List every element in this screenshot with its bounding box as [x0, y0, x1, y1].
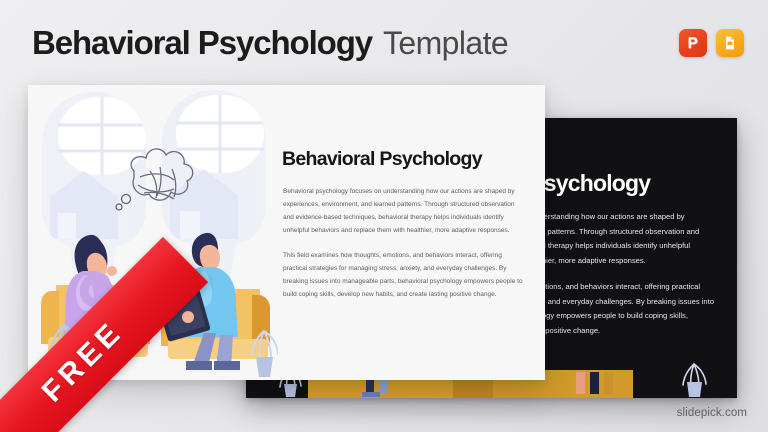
page-title: Behavioral Psychology Template	[32, 24, 679, 62]
powerpoint-icon[interactable]	[679, 29, 707, 57]
slide-light-body: Behavioral psychology focuses on underst…	[283, 185, 524, 301]
slide-light-title: Behavioral Psychology	[282, 148, 482, 171]
google-slides-icon[interactable]	[716, 29, 744, 57]
slide-light-paragraph: Behavioral psychology focuses on underst…	[283, 185, 524, 238]
page-title-bold: Behavioral Psychology	[32, 24, 372, 62]
site-watermark: slidepick.com	[677, 407, 747, 419]
format-icons	[679, 29, 744, 57]
slide-light-paragraph: This field examines how thoughts, emotio…	[283, 249, 524, 302]
page-title-light: Template	[383, 25, 508, 62]
page-header: Behavioral Psychology Template	[0, 0, 768, 86]
